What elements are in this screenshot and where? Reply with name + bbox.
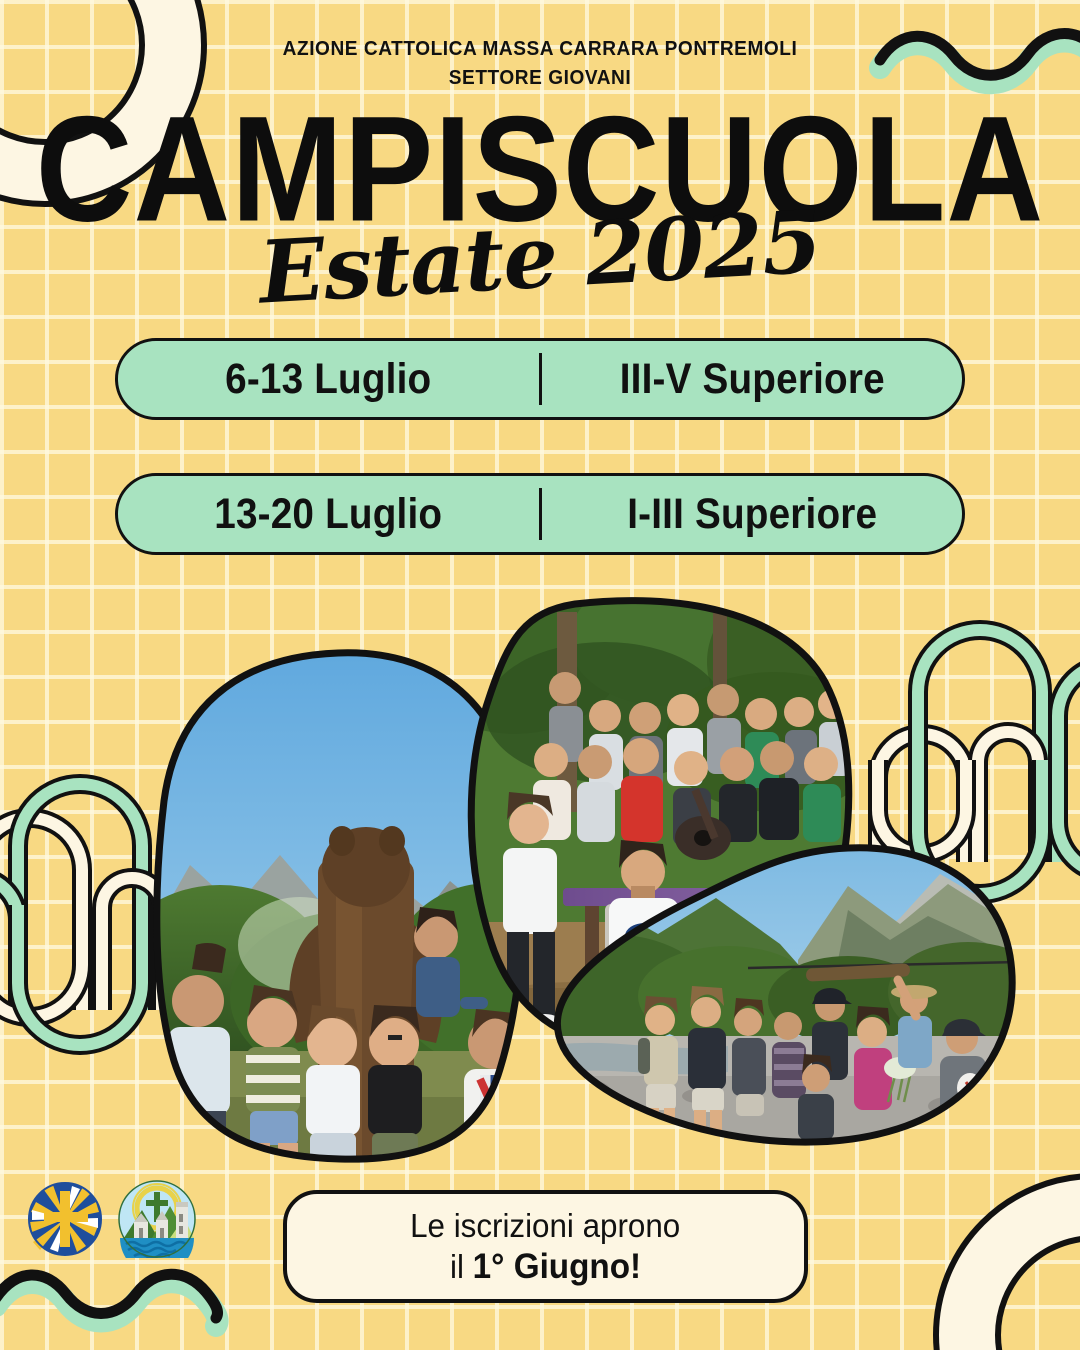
- session-pill-1[interactable]: 6-13 Luglio III-V Superiore: [115, 338, 965, 420]
- wavy-line-bottom-left: [0, 1268, 250, 1348]
- pill-divider: [539, 488, 542, 540]
- ring-arc-bottom-right: [930, 1170, 1080, 1350]
- serpentine-right: [860, 612, 1080, 862]
- diocesi-massa-carrara-pontremoli-logo: [118, 1180, 196, 1258]
- org-line-1: AZIONE CATTOLICA MASSA CARRARA PONTREMOL…: [38, 34, 1042, 63]
- poster-root: AZIONE CATTOLICA MASSA CARRARA PONTREMOL…: [0, 0, 1080, 1350]
- organization-header: AZIONE CATTOLICA MASSA CARRARA PONTREMOL…: [38, 34, 1042, 92]
- logo-row: [28, 1180, 196, 1258]
- session-1-dates: 6-13 Luglio: [139, 355, 517, 404]
- banner-line-1: Le iscrizioni aprono: [410, 1207, 680, 1245]
- pill-divider: [539, 353, 542, 405]
- session-pill-2[interactable]: 13-20 Luglio I-III Superiore: [115, 473, 965, 555]
- banner-line-2: il 1° Giugno!: [450, 1247, 641, 1287]
- banner-line-2-prefix: il: [450, 1248, 473, 1285]
- azione-cattolica-logo: [28, 1182, 102, 1256]
- photo-river-valley-group: [548, 840, 1018, 1150]
- session-2-grades: I-III Superiore: [563, 490, 941, 539]
- session-2-dates: 13-20 Luglio: [139, 490, 517, 539]
- registration-banner[interactable]: Le iscrizioni aprono il 1° Giugno!: [283, 1190, 808, 1303]
- session-1-grades: III-V Superiore: [563, 355, 941, 404]
- banner-line-2-date: 1° Giugno!: [473, 1247, 641, 1286]
